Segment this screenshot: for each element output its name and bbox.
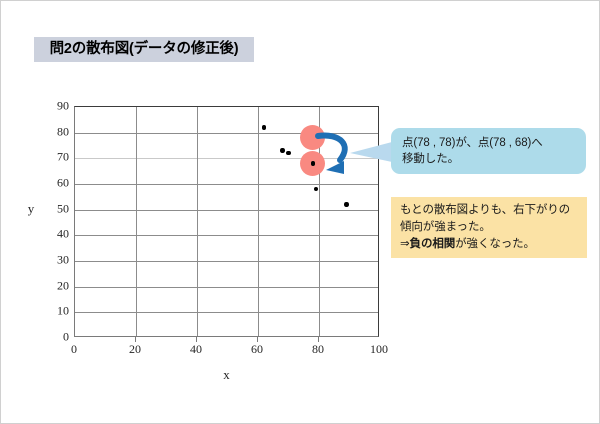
x-tick-100: 100 <box>359 342 399 357</box>
gridline-x-40 <box>197 107 198 336</box>
data-point <box>280 148 284 152</box>
gridline-y-50 <box>75 210 378 211</box>
y-tick-10: 10 <box>43 304 69 319</box>
gridline-y-60 <box>75 184 378 185</box>
data-point <box>314 187 318 191</box>
y-axis-tick-labels: 90 80 70 60 50 40 30 20 10 0 <box>41 106 69 337</box>
callout-pointer <box>350 142 392 162</box>
x-tick-60: 60 <box>237 342 277 357</box>
x-axis-tick-labels: 0 20 40 60 80 100 <box>74 342 379 358</box>
data-point <box>262 125 266 129</box>
y-tick-40: 40 <box>43 227 69 242</box>
y-tick-30: 30 <box>43 253 69 268</box>
note-line3-suffix: が強くなった。 <box>455 238 535 250</box>
x-tick-20: 20 <box>115 342 155 357</box>
gridline-y-40 <box>75 235 378 236</box>
y-axis-title: y <box>23 201 39 217</box>
y-tick-80: 80 <box>43 124 69 139</box>
callout-bubble: 点(78 , 78)が、点(78 , 68)へ 移動した。 <box>391 128 586 174</box>
y-tick-70: 70 <box>43 150 69 165</box>
gridline-x-20 <box>136 107 137 336</box>
note-line-3: ⇒負の相関が強くなった。 <box>400 236 582 253</box>
x-axis-title: x <box>74 367 379 383</box>
note-arrow-prefix: ⇒ <box>400 238 410 250</box>
note-box: もとの散布図よりも、右下がりの 傾向が強まった。 ⇒負の相関が強くなった。 <box>391 197 587 258</box>
y-tick-50: 50 <box>43 201 69 216</box>
gridline-y-20 <box>75 287 378 288</box>
gridline-y-10 <box>75 312 378 313</box>
data-point <box>344 202 348 206</box>
data-point <box>286 151 290 155</box>
y-tick-60: 60 <box>43 176 69 191</box>
y-tick-20: 20 <box>43 278 69 293</box>
x-tick-80: 80 <box>298 342 338 357</box>
note-text: もとの散布図よりも、右下がりの 傾向が強まった。 ⇒負の相関が強くなった。 <box>400 202 582 253</box>
slide-canvas: 問2の散布図(データの修正後) 90 80 70 60 50 40 30 20 … <box>0 0 600 424</box>
y-tick-90: 90 <box>43 99 69 114</box>
note-emphasis: 負の相関 <box>410 238 456 250</box>
gridline-y-30 <box>75 261 378 262</box>
callout-text: 点(78 , 78)が、点(78 , 68)へ 移動した。 <box>402 135 578 167</box>
x-tick-0: 0 <box>54 342 94 357</box>
x-tick-40: 40 <box>176 342 216 357</box>
note-line-2: 傾向が強まった。 <box>400 219 582 236</box>
note-line-1: もとの散布図よりも、右下がりの <box>400 202 582 219</box>
gridline-x-60 <box>258 107 259 336</box>
